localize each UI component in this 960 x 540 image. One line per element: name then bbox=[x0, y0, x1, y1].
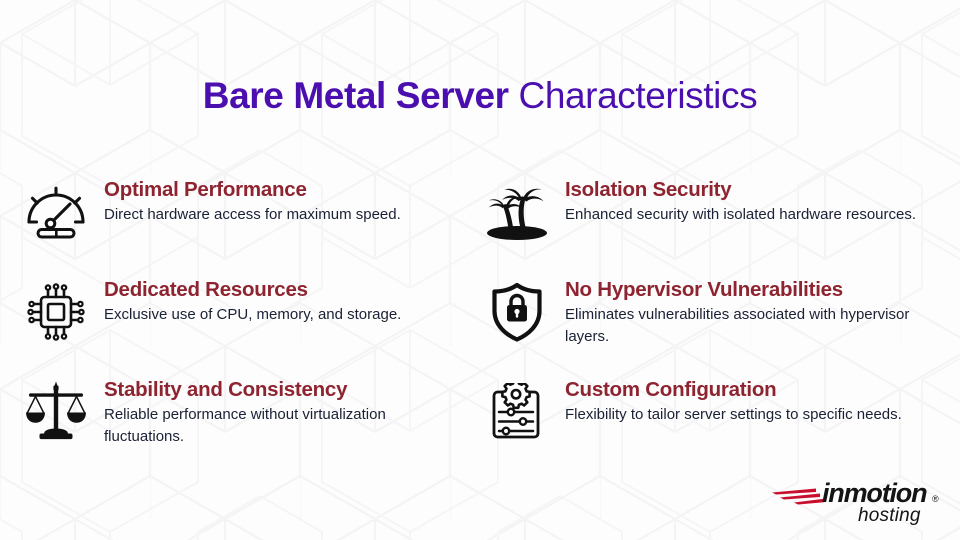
page-title: Bare Metal Server Characteristics bbox=[0, 76, 960, 117]
inmotion-hosting-logo: inmotion ® hosting bbox=[770, 472, 946, 528]
feature-text: Stability and Consistency Reliable perfo… bbox=[104, 376, 457, 448]
feature-text: No Hypervisor Vulnerabilities Eliminates… bbox=[565, 276, 948, 348]
logo-wordmark: inmotion bbox=[822, 478, 927, 508]
palm-island-icon bbox=[483, 178, 551, 246]
feature-item-no-hypervisor-vulnerabilities: No Hypervisor Vulnerabilities Eliminates… bbox=[483, 276, 948, 376]
feature-title: Dedicated Resources bbox=[104, 278, 457, 302]
feature-item-isolation-security: Isolation Security Enhanced security wit… bbox=[483, 176, 948, 276]
feature-title: Stability and Consistency bbox=[104, 378, 457, 402]
feature-text: Dedicated Resources Exclusive use of CPU… bbox=[104, 276, 457, 326]
feature-description: Direct hardware access for maximum speed… bbox=[104, 204, 457, 226]
settings-sliders-icon bbox=[483, 378, 551, 446]
feature-text: Custom Configuration Flexibility to tail… bbox=[565, 376, 948, 426]
page-title-wrap: Bare Metal Server Characteristics bbox=[0, 76, 960, 117]
feature-text: Isolation Security Enhanced security wit… bbox=[565, 176, 948, 226]
logo-registered-mark: ® bbox=[932, 494, 939, 504]
gauge-icon bbox=[22, 178, 90, 246]
feature-title: Custom Configuration bbox=[565, 378, 948, 402]
page-title-strong: Bare Metal Server bbox=[203, 75, 509, 116]
feature-description: Reliable performance without virtualizat… bbox=[104, 404, 457, 448]
feature-description: Eliminates vulnerabilities associated wi… bbox=[565, 304, 925, 348]
feature-description: Flexibility to tailor server settings to… bbox=[565, 404, 925, 426]
feature-text: Optimal Performance Direct hardware acce… bbox=[104, 176, 457, 226]
feature-description: Enhanced security with isolated hardware… bbox=[565, 204, 925, 226]
feature-title: Optimal Performance bbox=[104, 178, 457, 202]
feature-item-optimal-performance: Optimal Performance Direct hardware acce… bbox=[22, 176, 457, 276]
feature-item-stability-and-consistency: Stability and Consistency Reliable perfo… bbox=[22, 376, 457, 476]
balance-scale-icon bbox=[22, 378, 90, 446]
feature-title: No Hypervisor Vulnerabilities bbox=[565, 278, 948, 302]
page-title-light: Characteristics bbox=[509, 75, 758, 116]
feature-item-dedicated-resources: Dedicated Resources Exclusive use of CPU… bbox=[22, 276, 457, 376]
cpu-chip-icon bbox=[22, 278, 90, 346]
features-grid: Optimal Performance Direct hardware acce… bbox=[0, 176, 960, 476]
shield-lock-icon bbox=[483, 278, 551, 346]
feature-title: Isolation Security bbox=[565, 178, 948, 202]
feature-item-custom-configuration: Custom Configuration Flexibility to tail… bbox=[483, 376, 948, 476]
feature-description: Exclusive use of CPU, memory, and storag… bbox=[104, 304, 457, 326]
logo-tagline: hosting bbox=[858, 505, 921, 526]
slide-canvas: Bare Metal Server Characteristics bbox=[0, 0, 960, 540]
